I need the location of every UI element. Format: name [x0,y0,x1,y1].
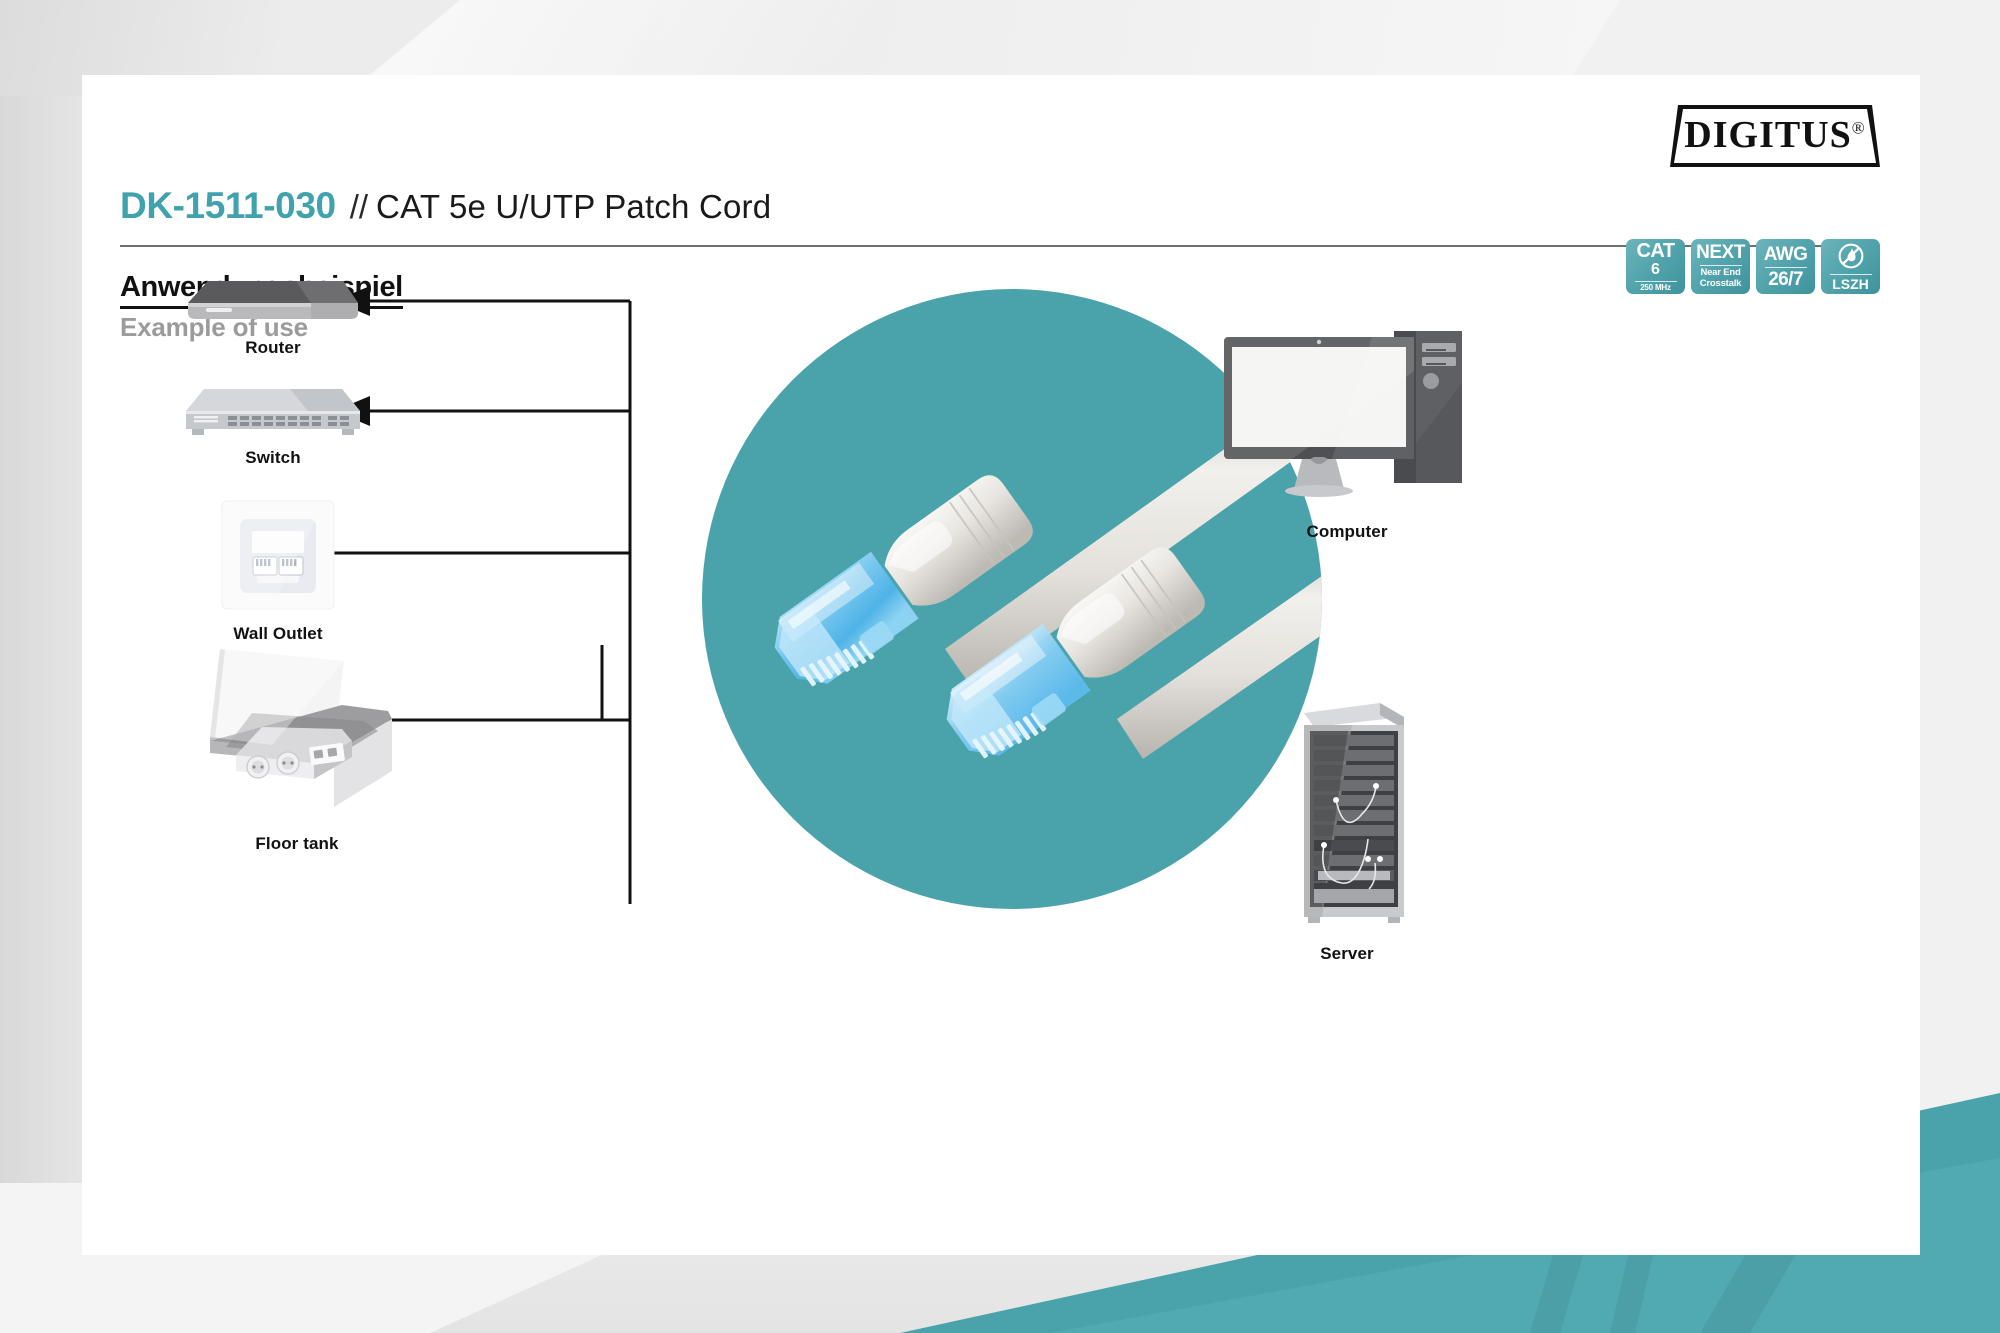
awg-badge-line1: AWG [1764,245,1808,264]
product-sku: DK-1511-030 [120,185,336,226]
product-title-row: DK-1511-030//CAT 5e U/UTP Patch Cord [120,185,1880,227]
floor-tank-label: Floor tank [192,834,402,854]
next-badge-divider [1700,265,1742,266]
next-badge: NEXT Near End Crosstalk [1691,239,1750,294]
no-flame-icon [1837,242,1865,270]
title-divider [120,245,1880,247]
next-badge-sub2: Crosstalk [1700,279,1742,290]
next-badge-line1: NEXT [1696,243,1745,262]
awg-badge-divider [1765,267,1807,268]
router-label: Router [178,338,368,358]
node-floor-tank: Floor tank [192,645,402,854]
node-switch: Switch [178,377,368,468]
digitus-logo: DIGITUS® [1670,105,1880,167]
lszh-badge: LSZH [1821,239,1880,294]
page-root: DIGITUS® DK-1511-030//CAT 5e U/UTP Patch… [0,0,2000,1333]
wall-outlet-label: Wall Outlet [208,624,348,644]
router-icon [178,267,368,329]
awg-badge: AWG 26/7 [1756,239,1815,294]
content-card: DIGITUS® DK-1511-030//CAT 5e U/UTP Patch… [82,75,1920,1255]
logo-registered-mark: ® [1852,118,1866,137]
server-icon [1252,695,1442,935]
lszh-badge-divider [1830,274,1872,275]
server-label: Server [1252,944,1442,964]
node-router: Router [178,267,368,358]
floor-tank-icon [192,645,402,825]
computer-icon [1222,323,1472,513]
node-wall-outlet: Wall Outlet [208,495,348,644]
logo-wordmark: DIGITUS® [1670,113,1880,157]
cat-badge-line3: 250 MHz [1640,284,1671,292]
logo-text-label: DIGITUS [1684,114,1852,156]
product-name: CAT 5e U/UTP Patch Cord [376,188,771,225]
lszh-badge-label: LSZH [1832,277,1869,291]
spec-badges: CAT 6 250 MHz NEXT Near End Crosstalk AW… [1626,239,1880,294]
title-separator: // [350,188,368,225]
computer-label: Computer [1222,522,1472,542]
node-server: Server [1252,695,1442,964]
awg-badge-line2: 26/7 [1768,270,1803,289]
cat-badge-divider [1635,281,1677,282]
switch-icon [178,377,368,439]
cat-badge-line1: CAT [1636,241,1674,261]
wall-outlet-icon [208,495,348,615]
cat-badge-line2: 6 [1651,262,1660,278]
switch-label: Switch [178,448,368,468]
node-computer: Computer [1222,323,1472,542]
cat-badge: CAT 6 250 MHz [1626,239,1685,294]
